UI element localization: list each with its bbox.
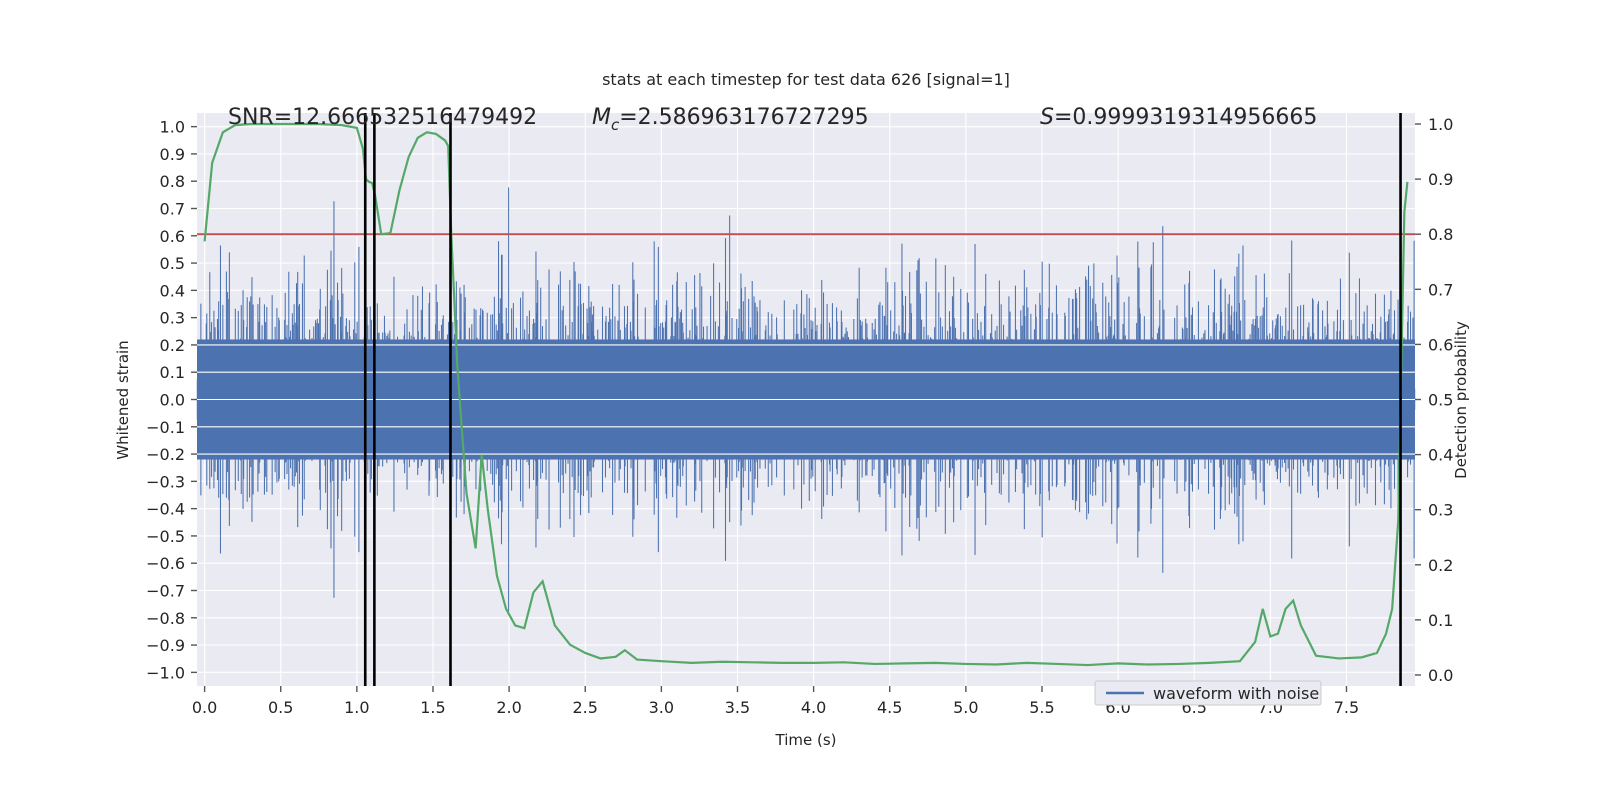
y2-tick-label: 0.1 bbox=[1428, 611, 1453, 630]
y-tick-label: −1.0 bbox=[146, 663, 185, 682]
x-tick-label: 2.5 bbox=[573, 698, 598, 717]
y2-tick-label: 0.3 bbox=[1428, 501, 1453, 520]
y2-tick-label: 0.0 bbox=[1428, 666, 1453, 685]
x-tick-label: 1.5 bbox=[420, 698, 445, 717]
y2-tick-label: 0.9 bbox=[1428, 170, 1453, 189]
y2-tick-label: 0.4 bbox=[1428, 446, 1453, 465]
y2-tick-label: 0.5 bbox=[1428, 391, 1453, 410]
annotation-significance-symbol: S bbox=[1040, 105, 1054, 130]
y-tick-label: 0.6 bbox=[160, 227, 185, 246]
x-tick-label: 5.5 bbox=[1029, 698, 1054, 717]
annotation-significance-value: =0.9999319314956665 bbox=[1054, 105, 1317, 130]
y-tick-label: −0.3 bbox=[146, 472, 185, 491]
y-tick-label: −0.7 bbox=[146, 582, 185, 601]
y-tick-label: 1.0 bbox=[160, 118, 185, 137]
x-axis-label: Time (s) bbox=[775, 731, 837, 749]
plot-title: stats at each timestep for test data 626… bbox=[602, 70, 1010, 89]
y2-tick-label: 0.7 bbox=[1428, 280, 1453, 299]
x-tick-label: 1.0 bbox=[344, 698, 369, 717]
y2-tick-label: 0.2 bbox=[1428, 556, 1453, 575]
annotation-snr: SNR=12.666532516479492 bbox=[228, 105, 537, 130]
y-tick-label: −0.8 bbox=[146, 609, 185, 628]
legend-label-waveform: waveform with noise bbox=[1153, 684, 1319, 703]
x-tick-label: 3.0 bbox=[649, 698, 674, 717]
x-tick-label: 0.0 bbox=[192, 698, 217, 717]
annotation-significance: S=0.9999319314956665 bbox=[1040, 105, 1317, 130]
y-tick-label: 0.1 bbox=[160, 363, 185, 382]
y-tick-label: 0.2 bbox=[160, 336, 185, 355]
x-tick-label: 4.0 bbox=[801, 698, 826, 717]
x-tick-label: 7.5 bbox=[1334, 698, 1359, 717]
y-tick-label: −0.9 bbox=[146, 636, 185, 655]
y-tick-label: −0.2 bbox=[146, 445, 185, 464]
x-tick-label: 3.5 bbox=[725, 698, 750, 717]
y-tick-label: 0.7 bbox=[160, 200, 185, 219]
matplotlib-figure: 1.00.90.80.70.60.50.40.30.20.10.0−0.1−0.… bbox=[0, 0, 1600, 800]
y-tick-label: −0.1 bbox=[146, 418, 185, 437]
y-tick-label: 0.8 bbox=[160, 172, 185, 191]
annotation-chirp-mass: Mc=2.586963176727295 bbox=[592, 105, 869, 134]
legend[interactable]: waveform with noise bbox=[1095, 681, 1321, 705]
x-tick-label: 4.5 bbox=[877, 698, 902, 717]
x-tick-label: 0.5 bbox=[268, 698, 293, 717]
y-tick-label: −0.6 bbox=[146, 554, 185, 573]
y-tick-label: 0.3 bbox=[160, 309, 185, 328]
y-axis-label: Whitened strain bbox=[114, 340, 132, 459]
y-tick-label: 0.0 bbox=[160, 391, 185, 410]
y-tick-label: 0.5 bbox=[160, 254, 185, 273]
annotation-chirp-mass-symbol: M bbox=[592, 105, 611, 130]
plot-canvas: 1.00.90.80.70.60.50.40.30.20.10.0−0.1−0.… bbox=[0, 0, 1600, 800]
y2-tick-label: 1.0 bbox=[1428, 115, 1453, 134]
y-tick-label: 0.9 bbox=[160, 145, 185, 164]
y-tick-label: 0.4 bbox=[160, 281, 185, 300]
y2-tick-label: 0.8 bbox=[1428, 225, 1453, 244]
x-tick-label: 2.0 bbox=[496, 698, 521, 717]
y-tick-label: −0.4 bbox=[146, 500, 185, 519]
secondary-y-axis-label: Detection probability bbox=[1452, 321, 1470, 479]
y-tick-label: −0.5 bbox=[146, 527, 185, 546]
y2-tick-label: 0.6 bbox=[1428, 335, 1453, 354]
x-tick-label: 5.0 bbox=[953, 698, 978, 717]
annotation-chirp-mass-value: =2.586963176727295 bbox=[619, 105, 868, 130]
